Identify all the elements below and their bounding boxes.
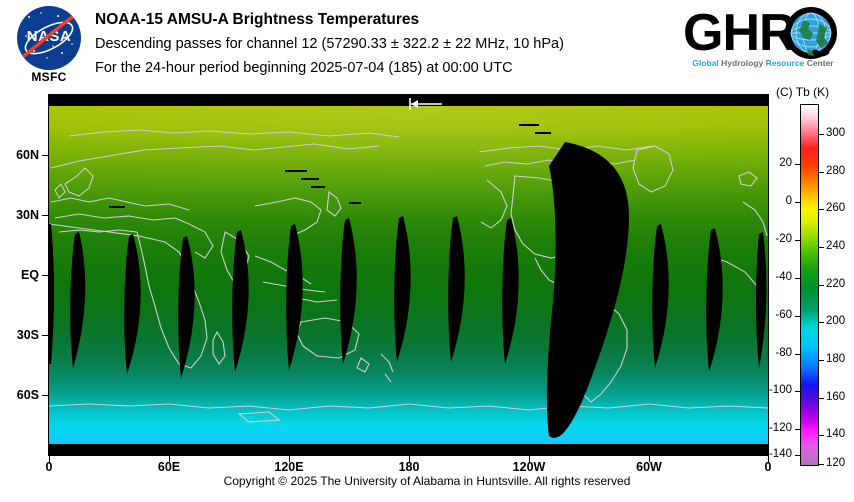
nasa-logo: NASA MSFC: [10, 6, 88, 86]
colorbar-k-label-300: 300: [826, 127, 854, 139]
copyright-notice: Copyright © 2025 The University of Alaba…: [0, 474, 854, 488]
y-axis-label-60n: 60N: [0, 148, 39, 162]
colorbar-k-tick-280: [818, 172, 824, 173]
colorbar-c-label-m80: -80: [756, 347, 792, 359]
colorbar-c-tick-m100: [795, 391, 801, 392]
colorbar-c-label-m40: -40: [756, 271, 792, 283]
y-tick-60s: [42, 395, 48, 396]
colorbar-k-label-120: 120: [826, 457, 854, 469]
colorbar-c-tick-0: [795, 202, 801, 203]
colorbar-k-label-140: 140: [826, 428, 854, 440]
colorbar-k-tick-260: [818, 209, 824, 210]
x-axis-label-60e: 60E: [149, 460, 189, 474]
map-border: [48, 94, 769, 456]
page-title: NOAA-15 AMSU-A Brightness Temperatures: [95, 8, 675, 32]
colorbar-k-tick-120: [818, 464, 824, 465]
page-subtitle-period: For the 24-hour period beginning 2025-07…: [95, 56, 675, 80]
colorbar-c-tick-20: [795, 164, 801, 165]
colorbar-k-tick-200: [818, 322, 824, 323]
page-header: NASA MSFC NOAA-15 AMSU-A Brightness Temp…: [0, 0, 854, 90]
title-block: NOAA-15 AMSU-A Brightness Temperatures D…: [95, 8, 675, 80]
colorbar-c-label-m100: -100: [752, 384, 792, 396]
x-axis-label-120e: 120E: [266, 460, 312, 474]
colorbar-c-label-0: 0: [756, 195, 792, 207]
y-tick-60n: [42, 155, 48, 156]
colorbar-k-tick-140: [818, 435, 824, 436]
colorbar-k-tick-240: [818, 247, 824, 248]
colorbar-c-tick-m20: [795, 240, 801, 241]
colorbar-header: (C) Tb (K): [776, 85, 829, 99]
ghrc-tagline-word-1: Global: [692, 58, 721, 68]
y-axis-label-30s: 30S: [0, 328, 39, 342]
colorbar-gradient: [801, 105, 818, 465]
nasa-swoosh-icon: [17, 6, 81, 70]
ghrc-wordmark-icon: GHR: [683, 6, 843, 62]
descending-node-marker-icon: [406, 96, 446, 112]
colorbar-k-tick-220: [818, 285, 824, 286]
x-axis-label-120w: 120W: [506, 460, 552, 474]
nasa-center-label: MSFC: [10, 70, 88, 84]
page-subtitle-channel: Descending passes for channel 12 (57290.…: [95, 32, 675, 56]
colorbar-k-label-240: 240: [826, 240, 854, 252]
colorbar-c-tick-m80: [795, 354, 801, 355]
colorbar-c-tick-m120: [795, 429, 801, 430]
ghrc-tagline: Global Hydrology Resource Center: [685, 58, 841, 68]
x-axis-label-180: 180: [389, 460, 429, 474]
colorbar-c-label-20: 20: [756, 157, 792, 169]
colorbar-k-tick-160: [818, 398, 824, 399]
colorbar-c-tick-m140: [795, 455, 801, 456]
nasa-insignia-icon: NASA: [17, 6, 81, 70]
colorbar[interactable]: [800, 104, 819, 466]
colorbar-c-label-m60: -60: [756, 309, 792, 321]
colorbar-k-label-160: 160: [826, 391, 854, 403]
ghrc-tagline-word-2: Hydrology: [721, 58, 765, 68]
x-axis-label-60w: 60W: [629, 460, 669, 474]
x-axis-label-360: 0: [748, 460, 788, 474]
colorbar-k-label-280: 280: [826, 165, 854, 177]
colorbar-c-label-m140: -140: [752, 448, 792, 460]
colorbar-c-label-m120: -120: [752, 422, 792, 434]
y-axis-label-60s: 60S: [0, 388, 39, 402]
colorbar-k-label-260: 260: [826, 202, 854, 214]
colorbar-c-tick-m40: [795, 278, 801, 279]
colorbar-k-tick-300: [818, 134, 824, 135]
ghrc-tagline-word-4: Center: [807, 58, 834, 68]
y-axis-label-30n: 30N: [0, 208, 39, 222]
x-axis-label-0: 0: [29, 460, 69, 474]
colorbar-c-label-m20: -20: [756, 233, 792, 245]
colorbar-k-label-180: 180: [826, 353, 854, 365]
colorbar-k-label-200: 200: [826, 315, 854, 327]
ghrc-tagline-word-3: Resource: [766, 58, 807, 68]
colorbar-k-tick-180: [818, 360, 824, 361]
y-tick-30s: [42, 335, 48, 336]
colorbar-k-label-220: 220: [826, 278, 854, 290]
ghrc-logo: GHR Global Hydrology Resource Center: [683, 8, 843, 80]
colorbar-c-tick-m60: [795, 316, 801, 317]
y-tick-eq: [42, 275, 48, 276]
svg-text:GHR: GHR: [683, 6, 796, 62]
y-tick-30n: [42, 215, 48, 216]
y-axis-label-eq: EQ: [0, 268, 39, 282]
